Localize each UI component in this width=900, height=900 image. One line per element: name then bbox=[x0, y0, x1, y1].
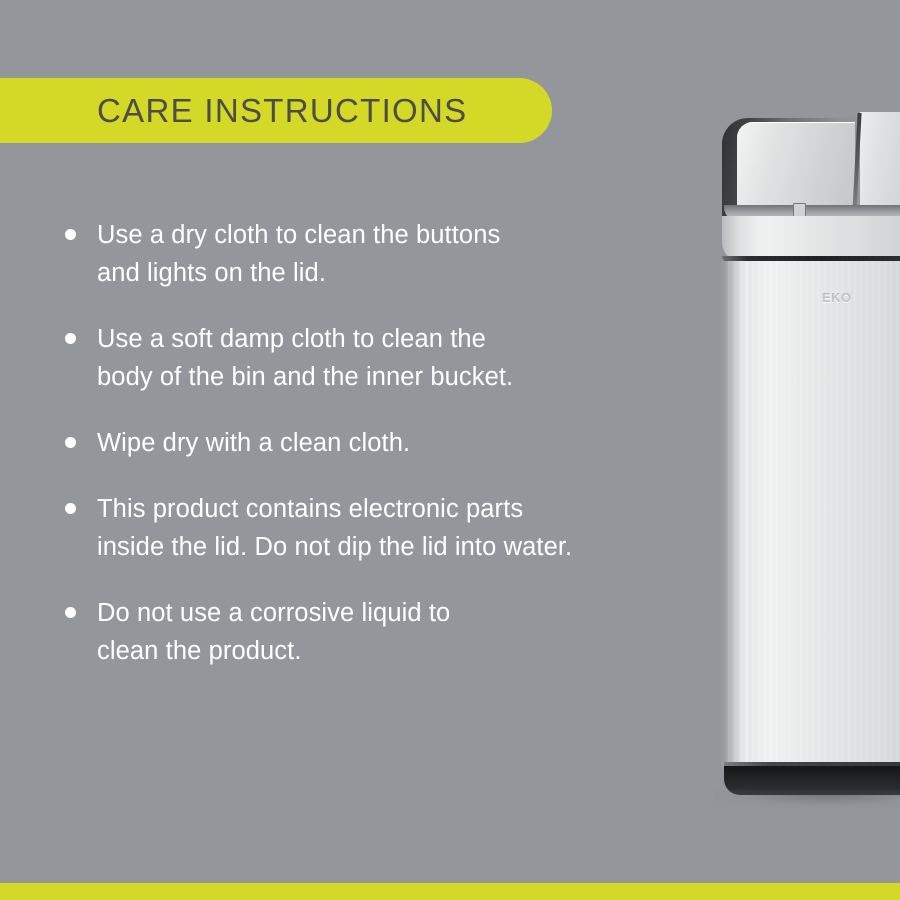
bin-base-highlight bbox=[724, 762, 900, 766]
care-instructions-list: Use a dry cloth to clean the buttons and… bbox=[60, 216, 710, 670]
bullet-icon bbox=[65, 607, 76, 618]
bullet-icon bbox=[65, 333, 76, 344]
list-item: Do not use a corrosive liquid to clean t… bbox=[60, 594, 710, 670]
product-image: EKO bbox=[700, 0, 900, 883]
list-item-text: Wipe dry with a clean cloth. bbox=[97, 424, 710, 462]
bullet-icon bbox=[65, 503, 76, 514]
header-banner: CARE INSTRUCTIONS bbox=[0, 78, 552, 143]
bin-body bbox=[722, 261, 900, 769]
list-item-text: Use a soft damp cloth to clean the body … bbox=[97, 320, 710, 396]
page-title: CARE INSTRUCTIONS bbox=[97, 92, 467, 130]
bin-lid-left-panel bbox=[737, 122, 855, 214]
list-item-text: Use a dry cloth to clean the buttons and… bbox=[97, 216, 710, 292]
bin-sensor-button bbox=[793, 203, 806, 217]
bullet-icon bbox=[65, 229, 76, 240]
list-item: This product contains electronic parts i… bbox=[60, 490, 710, 566]
list-item-text: Do not use a corrosive liquid to clean t… bbox=[97, 594, 710, 670]
list-item: Use a soft damp cloth to clean the body … bbox=[60, 320, 710, 396]
footer-accent-stripe bbox=[0, 883, 900, 900]
brand-logo: EKO bbox=[822, 290, 852, 305]
list-item-text: This product contains electronic parts i… bbox=[97, 490, 710, 566]
bullet-icon bbox=[65, 437, 76, 448]
list-item: Wipe dry with a clean cloth. bbox=[60, 424, 710, 462]
bin-contact-shadow bbox=[714, 790, 900, 808]
bin-body-left-edge bbox=[722, 261, 748, 769]
list-item: Use a dry cloth to clean the buttons and… bbox=[60, 216, 710, 292]
care-instructions-poster: CARE INSTRUCTIONS Use a dry cloth to cle… bbox=[0, 0, 900, 900]
bin-lid-right-panel bbox=[860, 112, 900, 210]
